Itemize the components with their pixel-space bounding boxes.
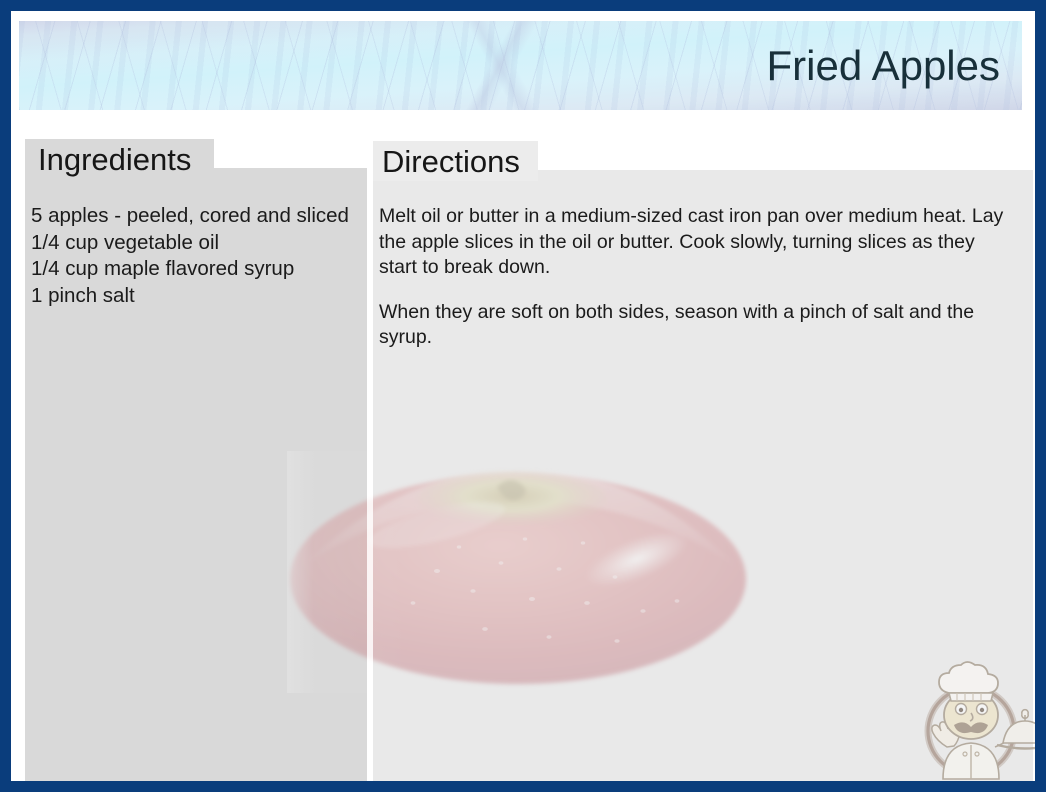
left-margin [11, 168, 25, 787]
directions-heading: Directions [382, 146, 520, 177]
panel-divider [367, 168, 373, 787]
ingredients-heading-tab: Ingredients [25, 139, 214, 179]
ingredients-heading: Ingredients [38, 144, 191, 175]
slide-canvas: Fried Apples [11, 11, 1035, 781]
recipe-slide: Fried Apples [0, 0, 1046, 792]
directions-paragraph-1: Melt oil or butter in a medium-sized cas… [379, 204, 1011, 281]
directions-paragraph-2: When they are soft on both sides, season… [379, 300, 1011, 351]
directions-body: Melt oil or butter in a medium-sized cas… [379, 204, 1011, 351]
header-banner: Fried Apples [19, 21, 1022, 110]
ingredients-list: 5 apples - peeled, cored and sliced 1/4 … [31, 203, 349, 309]
page-title: Fried Apples [767, 43, 1000, 87]
chef-logo [907, 655, 1039, 787]
directions-heading-tab: Directions [373, 141, 538, 181]
